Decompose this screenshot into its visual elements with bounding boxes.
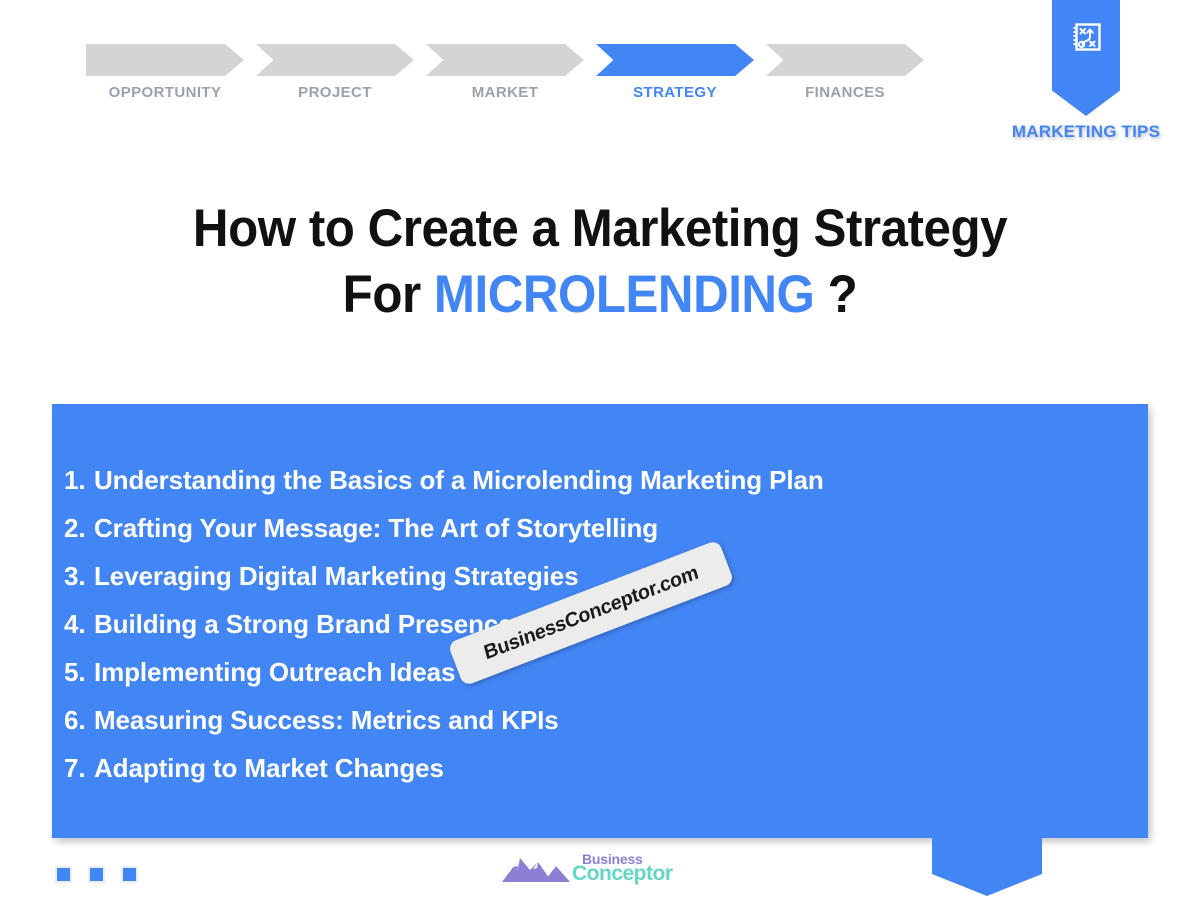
title-prefix: For	[343, 265, 434, 324]
mountain-icon	[500, 850, 574, 886]
chevron-shape	[86, 44, 244, 76]
step-label: FINANCES	[766, 84, 924, 101]
brand-logo: Business Conceptor	[500, 850, 680, 894]
footer-dot	[121, 866, 138, 883]
list-item-number: 7.	[64, 744, 94, 792]
step-label: STRATEGY	[596, 84, 754, 101]
title-highlight: MICROLENDING	[434, 265, 815, 324]
list-item-label: Leveraging Digital Marketing Strategies	[94, 561, 578, 591]
list-item: 6.Measuring Success: Metrics and KPIs	[64, 696, 1148, 744]
footer-dots	[55, 866, 138, 883]
step-finances[interactable]: FINANCES	[766, 44, 936, 110]
list-item: 2.Crafting Your Message: The Art of Stor…	[64, 504, 1148, 552]
list-item-number: 4.	[64, 600, 94, 648]
list-item-label: Crafting Your Message: The Art of Storyt…	[94, 513, 658, 543]
step-navigation: OPPORTUNITY PROJECT MARKET STRATEGY FINA…	[86, 44, 936, 110]
chevron-shape	[426, 44, 584, 76]
step-project[interactable]: PROJECT	[256, 44, 426, 110]
step-label: PROJECT	[256, 84, 414, 101]
page-title: How to Create a Marketing Strategy For M…	[0, 196, 1200, 328]
ribbon-shape	[1052, 0, 1120, 116]
chevron-shape	[256, 44, 414, 76]
list-item: 1.Understanding the Basics of a Microlen…	[64, 456, 1148, 504]
list-item: 5.Implementing Outreach Ideas	[64, 648, 1148, 696]
step-market[interactable]: MARKET	[426, 44, 596, 110]
list-item-label: Understanding the Basics of a Microlendi…	[94, 465, 824, 495]
footer-dot	[88, 866, 105, 883]
bottom-ribbon-tab	[932, 838, 1042, 896]
list-item-number: 1.	[64, 456, 94, 504]
title-suffix: ?	[814, 265, 857, 324]
chevron-shape-active	[596, 44, 754, 76]
list-item-label: Adapting to Market Changes	[94, 753, 444, 783]
list-item-label: Implementing Outreach Ideas	[94, 657, 455, 687]
step-label: OPPORTUNITY	[86, 84, 244, 101]
step-strategy[interactable]: STRATEGY	[596, 44, 766, 110]
title-line-2: For MICROLENDING ?	[42, 262, 1158, 328]
marketing-tips-badge: MARKETING TIPS	[1052, 0, 1120, 116]
logo-wordmark: Business Conceptor	[572, 852, 673, 884]
list-item-number: 5.	[64, 648, 94, 696]
title-line-1: How to Create a Marketing Strategy	[42, 196, 1158, 262]
footer-dot	[55, 866, 72, 883]
list-item-number: 3.	[64, 552, 94, 600]
list-item-number: 2.	[64, 504, 94, 552]
list-item-label: Measuring Success: Metrics and KPIs	[94, 705, 559, 735]
step-label: MARKET	[426, 84, 584, 101]
marketing-tips-label: MARKETING TIPS	[1000, 122, 1172, 142]
step-opportunity[interactable]: OPPORTUNITY	[86, 44, 256, 110]
logo-conceptor-text: Conceptor	[572, 863, 673, 884]
list-item-label: Building a Strong Brand Presence	[94, 609, 513, 639]
list-item-number: 6.	[64, 696, 94, 744]
list-item: 7.Adapting to Market Changes	[64, 744, 1148, 792]
chevron-shape	[766, 44, 924, 76]
strategy-playbook-icon	[1069, 20, 1103, 54]
